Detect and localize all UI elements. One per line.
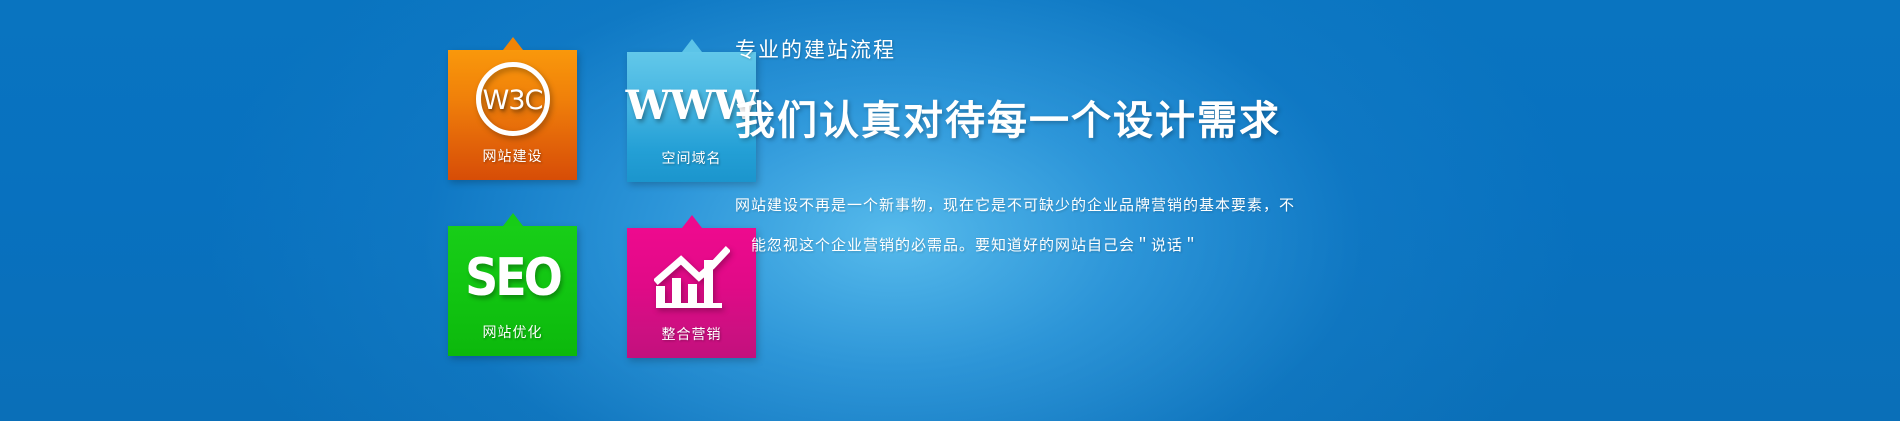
- banner-eyebrow: 专业的建站流程: [735, 34, 1535, 64]
- tile-caption-seo: 网站优化: [448, 322, 577, 342]
- tile-caption-marketing: 整合营销: [627, 324, 756, 344]
- tile-web-design[interactable]: W3C 网站建设: [448, 50, 577, 180]
- seo-text-icon: SEO: [448, 226, 577, 324]
- promo-banner: W3C 网站建设 WWW 空间域名 SEO 网站优化: [0, 0, 1900, 421]
- seo-label: SEO: [465, 247, 560, 307]
- body-line-2: 能忽视这个企业营销的必需品。要知道好的网站自己会＂说话＂: [735, 234, 1535, 255]
- tile-notch-icon: [503, 37, 523, 50]
- tile-notch-icon: [682, 39, 702, 52]
- banner-body-copy: 网站建设不再是一个新事物，现在它是不可缺少的企业品牌营销的基本要素，不 能忽视这…: [735, 194, 1535, 255]
- body-line-1: 网站建设不再是一个新事物，现在它是不可缺少的企业品牌营销的基本要素，不: [735, 194, 1535, 215]
- tile-notch-icon: [503, 213, 523, 226]
- banner-copy: 专业的建站流程 我们认真对待每一个设计需求 网站建设不再是一个新事物，现在它是不…: [735, 34, 1535, 255]
- w3c-ring-icon: W3C: [448, 50, 577, 148]
- w3c-label: W3C: [483, 85, 543, 116]
- service-tile-grid: W3C 网站建设 WWW 空间域名 SEO 网站优化: [448, 50, 758, 360]
- tile-caption-web-design: 网站建设: [448, 146, 577, 166]
- tile-seo[interactable]: SEO 网站优化: [448, 226, 577, 356]
- tile-notch-icon: [682, 215, 702, 228]
- banner-headline: 我们认真对待每一个设计需求: [735, 88, 1535, 146]
